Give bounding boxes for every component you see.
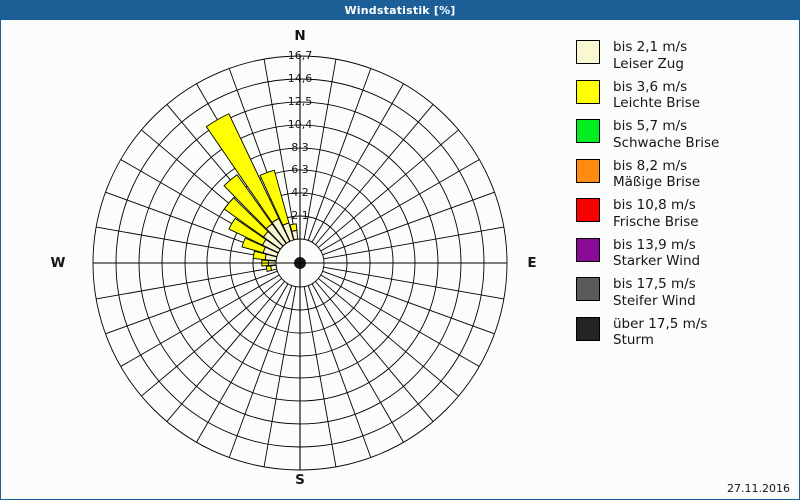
wind-statistics-window: Windstatistik [%] N S W E 2,14,26,38,310…: [0, 0, 800, 500]
legend-color-swatch: [576, 80, 600, 104]
legend-item-text: bis 2,1 m/sLeiser Zug: [613, 39, 687, 72]
grid-spoke: [312, 84, 404, 242]
radial-tick-label: 10,4: [282, 118, 318, 131]
radial-tick-label: 4,2: [282, 186, 318, 199]
legend-beaufort-name: Sturm: [613, 332, 707, 349]
wind-rose-chart: N S W E 2,14,26,38,310,412,514,616,7: [1, 21, 561, 499]
compass-label-west: W: [38, 255, 78, 271]
radial-tick-label: 14,6: [282, 72, 318, 85]
grid-spoke: [321, 275, 479, 367]
grid-spoke: [141, 278, 281, 396]
legend-item: bis 13,9 m/sStarker Wind: [576, 237, 796, 270]
legend-item: bis 17,5 m/sSteifer Wind: [576, 276, 796, 309]
grid-spoke: [318, 130, 458, 248]
radial-tick-label: 8,3: [282, 141, 318, 154]
legend-item-text: bis 13,9 m/sStarker Wind: [613, 237, 700, 270]
legend-color-swatch: [576, 317, 600, 341]
grid-spoke: [323, 192, 495, 255]
legend-color-swatch: [576, 277, 600, 301]
legend-speed-range: bis 10,8 m/s: [613, 197, 699, 214]
legend-item: bis 8,2 m/sMäßige Brise: [576, 158, 796, 191]
legend-item: über 17,5 m/sSturm: [576, 316, 796, 349]
legend-beaufort-name: Mäßige Brise: [613, 174, 700, 191]
wind-speed-legend: bis 2,1 m/sLeiser Zugbis 3,6 m/sLeichte …: [576, 39, 796, 355]
legend-color-swatch: [576, 198, 600, 222]
legend-speed-range: bis 3,6 m/s: [613, 79, 700, 96]
grid-spoke: [121, 275, 279, 367]
legend-item-text: bis 3,6 m/sLeichte Brise: [613, 79, 700, 112]
legend-beaufort-name: Leiser Zug: [613, 56, 687, 73]
date-stamp: 27.11.2016: [727, 482, 790, 495]
grid-spoke: [315, 281, 433, 421]
legend-item-text: bis 5,7 m/sSchwache Brise: [613, 118, 719, 151]
grid-spoke: [229, 286, 292, 458]
legend-speed-range: bis 13,9 m/s: [613, 237, 700, 254]
grid-spoke: [167, 281, 285, 421]
grid-spoke: [323, 271, 495, 334]
grid-spoke: [308, 286, 371, 458]
legend-item-text: bis 10,8 m/sFrische Brise: [613, 197, 699, 230]
legend-item-text: über 17,5 m/sSturm: [613, 316, 707, 349]
grid-spoke: [324, 267, 504, 299]
grid-spoke: [304, 287, 336, 467]
legend-item-text: bis 8,2 m/sMäßige Brise: [613, 158, 700, 191]
grid-spoke: [324, 227, 504, 259]
grid-spoke: [96, 267, 276, 299]
legend-color-swatch: [576, 238, 600, 262]
legend-beaufort-name: Starker Wind: [613, 253, 700, 270]
compass-label-south: S: [280, 472, 320, 488]
radial-tick-label: 2,1: [282, 209, 318, 222]
grid-spoke: [318, 278, 458, 396]
legend-item-text: bis 17,5 m/sSteifer Wind: [613, 276, 696, 309]
radial-tick-label: 16,7: [282, 49, 318, 62]
legend-speed-range: bis 8,2 m/s: [613, 158, 700, 175]
grid-spoke: [105, 271, 277, 334]
compass-label-east: E: [512, 255, 552, 271]
window-title: Windstatistik [%]: [344, 4, 455, 17]
wind-rose-svg: [1, 21, 561, 499]
window-title-bar: Windstatistik [%]: [1, 1, 799, 20]
legend-speed-range: bis 2,1 m/s: [613, 39, 687, 56]
radial-tick-label: 6,3: [282, 163, 318, 176]
legend-beaufort-name: Schwache Brise: [613, 135, 719, 152]
legend-color-swatch: [576, 40, 600, 64]
legend-beaufort-name: Steifer Wind: [613, 293, 696, 310]
radial-tick-label: 12,5: [282, 95, 318, 108]
compass-label-north: N: [280, 28, 320, 44]
legend-beaufort-name: Leichte Brise: [613, 95, 700, 112]
legend-item: bis 5,7 m/sSchwache Brise: [576, 118, 796, 151]
grid-spoke: [264, 287, 296, 467]
legend-speed-range: bis 5,7 m/s: [613, 118, 719, 135]
legend-item: bis 3,6 m/sLeichte Brise: [576, 79, 796, 112]
grid-spoke: [312, 284, 404, 442]
wind-rose-sector: [266, 266, 271, 272]
legend-beaufort-name: Frische Brise: [613, 214, 699, 231]
legend-item: bis 2,1 m/sLeiser Zug: [576, 39, 796, 72]
legend-color-swatch: [576, 159, 600, 183]
grid-spoke: [315, 104, 433, 244]
legend-speed-range: über 17,5 m/s: [613, 316, 707, 333]
wind-rose-sector: [290, 224, 297, 231]
legend-color-swatch: [576, 119, 600, 143]
legend-speed-range: bis 17,5 m/s: [613, 276, 696, 293]
grid-spoke: [321, 160, 479, 252]
grid-spoke: [197, 284, 289, 442]
legend-item: bis 10,8 m/sFrische Brise: [576, 197, 796, 230]
